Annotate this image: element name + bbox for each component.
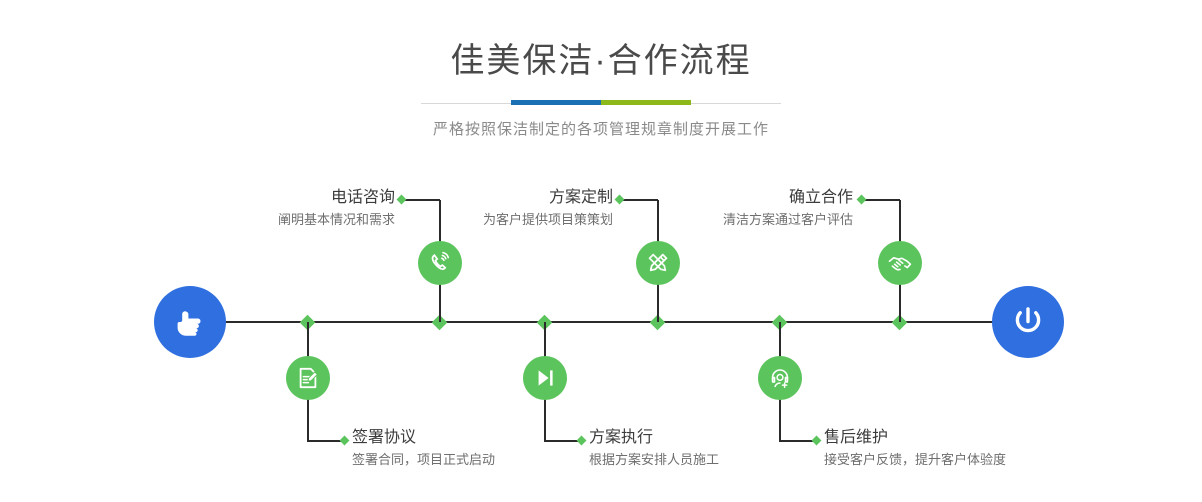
step-icon-handshake[interactable] [878,241,922,285]
step-icon-support[interactable] [758,356,802,400]
step-label-bottom-2: 方案执行 根据方案安排人员施工 [589,428,849,469]
pointing-hand-icon [170,302,210,342]
step-label-top-3: 确立合作 清洁方案通过客户评估 [615,188,853,229]
step-icon-execute[interactable] [523,356,567,400]
phone-ring-icon [427,250,453,276]
step-desc: 根据方案安排人员施工 [589,451,849,469]
step-desc: 签署合同，项目正式启动 [352,451,612,469]
step-desc: 清洁方案通过客户评估 [615,211,853,229]
step-title: 签署协议 [352,428,612,448]
connector-horizontal [779,440,815,442]
step-title: 方案执行 [589,428,849,448]
power-icon [1007,301,1049,343]
step-title: 电话咨询 [150,188,395,208]
step-label-bottom-1: 签署协议 签署合同，项目正式启动 [352,428,612,469]
flowchart-page: 佳美保洁·合作流程 严格按照保洁制定的各项管理规章制度开展工作 [0,0,1202,502]
connector-horizontal [307,440,343,442]
play-next-icon [532,365,558,391]
step-icon-pencil[interactable] [636,241,680,285]
headset-support-icon [767,365,793,391]
connector-horizontal [544,440,580,442]
step-label-top-1: 电话咨询 阐明基本情况和需求 [150,188,395,229]
step-desc: 阐明基本情况和需求 [150,211,395,229]
handshake-icon [887,250,913,276]
label-marker [340,436,350,446]
step-desc: 为客户提供项目策策划 [370,211,613,229]
step-label-bottom-3: 售后维护 接受客户反馈，提升客户体验度 [824,428,1104,469]
step-icon-phone[interactable] [418,241,462,285]
document-sign-icon [295,365,321,391]
step-title: 确立合作 [615,188,853,208]
step-label-top-2: 方案定制 为客户提供项目策策划 [370,188,613,229]
timeline-end-node[interactable] [992,286,1064,358]
step-title: 方案定制 [370,188,613,208]
step-icon-document[interactable] [286,356,330,400]
pencil-edit-icon [645,250,671,276]
step-title: 售后维护 [824,428,1104,448]
process-timeline: 电话咨询 阐明基本情况和需求 方案定制 为客户提供项目策策划 [0,0,1202,502]
label-marker [857,195,867,205]
connector-horizontal [863,199,900,201]
timeline-start-node[interactable] [154,286,226,358]
step-desc: 接受客户反馈，提升客户体验度 [824,451,1104,469]
